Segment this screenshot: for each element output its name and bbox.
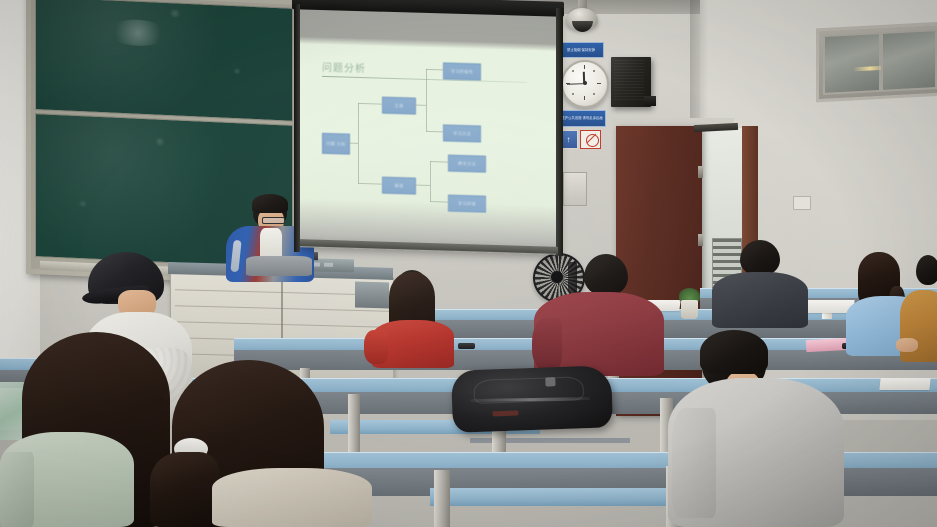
- diagram-connector: [430, 161, 448, 163]
- student-shoulder: [0, 452, 34, 527]
- diagram-connector: [426, 69, 443, 71]
- speaker-bracket: [644, 96, 656, 106]
- diagram-leaf-node-2: 学习方法: [443, 124, 481, 142]
- fan-hub: [551, 271, 563, 283]
- diagram-leaf-node-4: 学习环境: [448, 195, 486, 213]
- backpack-buckle: [545, 377, 555, 386]
- window-pane-right: [881, 29, 937, 92]
- door-hinge: [698, 234, 703, 246]
- clock-tick: [584, 96, 586, 100]
- slide-title-rule: [322, 76, 527, 83]
- diagram-branch-node-1: 主观: [382, 97, 416, 115]
- student-head: [740, 240, 780, 276]
- projection-screen: 问题分析 问题 分析 主观 客观 学习积极性 学习方法 教学方法: [298, 2, 560, 255]
- student-torso: [212, 468, 372, 527]
- wall-sign-top: 禁止吸烟 保持安静: [558, 42, 604, 58]
- clock-tick: [593, 70, 595, 72]
- clock-tick: [584, 65, 586, 69]
- clock-tick: [593, 93, 595, 95]
- diagram-connector: [358, 103, 359, 184]
- diagram-leaf-label-2: 学习方法: [453, 130, 471, 136]
- console-button[interactable]: [324, 263, 333, 267]
- clock-tick: [572, 93, 574, 95]
- potted-plant-pot: [681, 300, 698, 319]
- diagram-branch-label-2: 客观: [395, 183, 404, 189]
- wall-control-panel: [563, 172, 587, 206]
- presenter-hair: [252, 194, 288, 213]
- diagram-leaf-label-4: 学习环境: [458, 201, 476, 207]
- diagram-connector: [426, 69, 427, 132]
- wall-sign-middle-text: 爱护公共设施 请勿乱涂乱画: [561, 116, 603, 121]
- screen-left-edge: [294, 4, 300, 252]
- presenter-glasses-icon: [262, 217, 285, 224]
- student-arm: [364, 330, 388, 364]
- diagram-connector: [430, 161, 431, 202]
- diagram-connector: [430, 201, 448, 203]
- projected-slide: 问题分析 问题 分析 主观 客观 学习积极性 学习方法 教学方法: [298, 32, 560, 240]
- diagram-leaf-label-1: 学习积极性: [451, 68, 473, 74]
- wall-sign-top-text: 禁止吸烟 保持安静: [567, 48, 595, 53]
- diagram-leaf-node-3: 教学方法: [448, 155, 486, 173]
- chalk-smudge: [108, 18, 168, 47]
- chalk-smudge: [78, 200, 88, 207]
- student-ponytail: [150, 452, 220, 527]
- paper-sheet: [879, 378, 930, 390]
- student-torso: [712, 272, 808, 328]
- diagram-connector: [426, 131, 443, 133]
- wall-sign-middle: 爱护公共设施 请勿乱涂乱画: [558, 110, 606, 127]
- clock-tick: [597, 83, 601, 85]
- classroom-photo: 问题分析 问题 分析 主观 客观 学习积极性 学习方法 教学方法: [0, 0, 937, 527]
- speaker-grille: [614, 60, 644, 101]
- slide-title: 问题分析: [322, 59, 366, 75]
- window-pane-left: [823, 32, 881, 95]
- student-hair: [700, 330, 768, 374]
- door-hinge: [698, 166, 703, 178]
- backpack-accent: [492, 410, 518, 416]
- diagram-connector: [358, 103, 382, 105]
- desk-leg: [348, 394, 360, 456]
- wall-outlet: [793, 196, 811, 210]
- diagram-leaf-node-1: 学习积极性: [443, 62, 481, 80]
- clock-minute-hand: [567, 83, 584, 85]
- diagram-branch-label-1: 主观: [395, 103, 404, 109]
- podium-side-panel: [355, 282, 389, 309]
- no-smoking-sign-icon: [580, 130, 601, 149]
- diagram-connector: [414, 185, 430, 186]
- diagram-branch-node-2: 客观: [382, 177, 416, 195]
- desk-leg: [434, 470, 450, 527]
- diagram-connector: [358, 183, 382, 185]
- chalk-smudge: [154, 137, 166, 146]
- clock-tick: [572, 70, 574, 72]
- interior-window: [816, 22, 937, 103]
- student-head: [584, 254, 628, 296]
- student-hand: [896, 338, 918, 352]
- diagram-root-node: 问题 分析: [322, 133, 350, 155]
- blackboard-upper-panel: [35, 0, 293, 122]
- diagram-leaf-label-3: 教学方法: [458, 161, 476, 167]
- phone-on-desk: [458, 343, 475, 349]
- presenter-jacket-panel: [246, 256, 312, 276]
- chalk-smudge: [232, 68, 242, 74]
- screen-right-edge: [556, 8, 563, 256]
- student-head: [916, 255, 937, 285]
- student-arm: [532, 318, 562, 370]
- wall-clock: [561, 60, 609, 108]
- backpack: [451, 365, 613, 433]
- clock-center: [583, 81, 587, 85]
- chalk-smudge: [168, 9, 182, 18]
- student-arm: [672, 408, 716, 518]
- diagram-root-label: 问题 分析: [326, 141, 345, 147]
- bench-row-e: [430, 488, 670, 506]
